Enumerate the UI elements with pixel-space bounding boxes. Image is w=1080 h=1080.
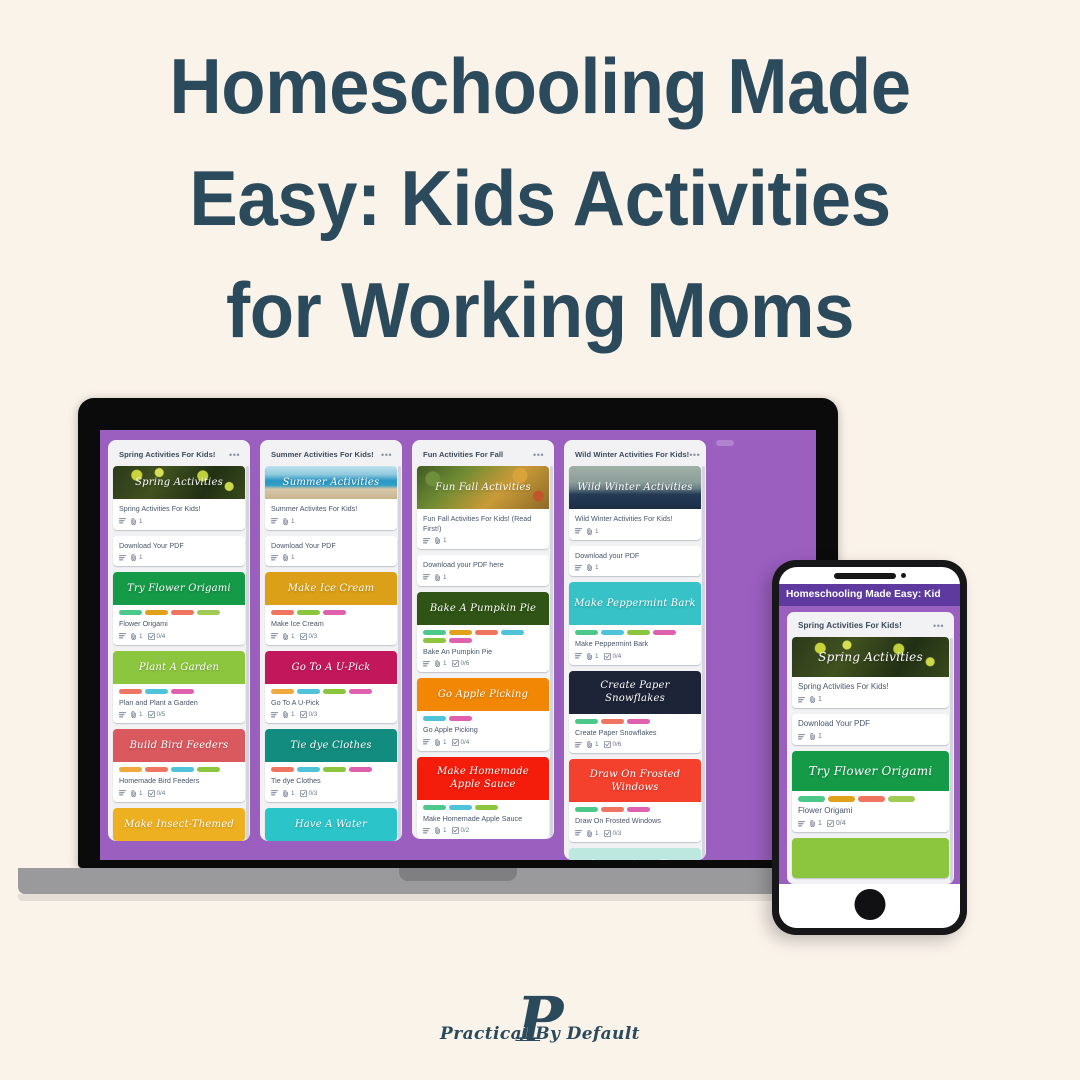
card-title: Spring Activities For Kids! <box>119 504 239 514</box>
card-label[interactable] <box>171 689 194 694</box>
card-body: Plan and Plant a Garden10/5 <box>113 684 245 724</box>
badge-attachment: 1 <box>131 790 143 797</box>
attachment-icon <box>131 554 137 561</box>
checklist-icon <box>604 741 611 748</box>
badge-description <box>271 790 278 796</box>
card-label[interactable] <box>145 689 168 694</box>
attachment-icon <box>435 739 441 746</box>
list-scrollbar[interactable] <box>398 466 401 839</box>
badge-description <box>575 742 582 748</box>
card-label[interactable] <box>475 805 498 810</box>
card-body: Bake An Pumpkin Pie10/6 <box>417 625 549 673</box>
card-labels <box>119 610 239 615</box>
badge-attachment: 1 <box>587 741 599 748</box>
card-labels <box>423 630 543 643</box>
badge-attachment: 1 <box>810 696 822 703</box>
badge-description <box>575 565 582 571</box>
card-title: Flower Origami <box>798 806 943 816</box>
card-label[interactable] <box>449 716 472 721</box>
card-cover-text: Spring Activities <box>131 476 227 489</box>
card-title: Homemade Bird Feeders <box>119 776 239 786</box>
badge-description <box>119 555 126 561</box>
list-header: Wild Winter Activities For Kids!••• <box>569 446 701 466</box>
card-label[interactable] <box>449 638 472 643</box>
card-label[interactable] <box>475 630 498 635</box>
description-icon <box>119 555 126 561</box>
card-cover-text: Learn About The <box>587 858 683 861</box>
card-title: Make Ice Cream <box>271 619 391 629</box>
badge-description <box>423 739 430 745</box>
card-cover: Go To A U-Pick <box>265 651 397 684</box>
attachment-icon <box>587 830 593 837</box>
card-body: Download your PDF here1 <box>417 555 549 586</box>
card-labels <box>271 610 391 615</box>
list-menu-icon[interactable]: ••• <box>533 453 544 457</box>
card-title: Make Homemade Apple Sauce <box>423 814 543 824</box>
card-body: Make Ice Cream10/3 <box>265 605 397 645</box>
phone-home-button[interactable] <box>854 889 885 920</box>
phone-board[interactable]: Spring Activities For Kids!•••Spring Act… <box>779 606 960 884</box>
badge-description <box>271 633 278 639</box>
list-scrollbar[interactable] <box>246 466 249 839</box>
card-title: Bake An Pumpkin Pie <box>423 647 543 657</box>
attachment-icon <box>435 660 441 667</box>
card-labels <box>423 805 543 810</box>
card-label[interactable] <box>575 630 598 635</box>
card-label[interactable] <box>888 796 915 802</box>
card-badges: 1 <box>575 564 695 571</box>
trello-board[interactable]: Spring Activities For Kids!•••Spring Act… <box>100 430 816 860</box>
card-badges: 10/4 <box>575 653 695 660</box>
card-label[interactable] <box>297 610 320 615</box>
board-card[interactable]: Make Peppermint BarkMake Peppermint Bark… <box>569 582 701 665</box>
attachment-icon <box>587 528 593 535</box>
card-badges: 10/3 <box>575 830 695 837</box>
page-title: Homeschooling Made Easy: Kids Activities… <box>60 30 1020 366</box>
board-card[interactable]: Go Apple PickingGo Apple Picking10/4 <box>417 678 549 751</box>
card-label[interactable] <box>601 807 624 812</box>
card-label[interactable] <box>197 767 220 772</box>
board-card[interactable]: Fun Fall ActivitiesFun Fall Activities F… <box>417 466 549 549</box>
card-cover: Build Bird Feeders <box>113 729 245 762</box>
badge-attachment: 1 <box>810 820 822 827</box>
board-card[interactable]: Go To A U-PickGo To A U-Pick10/3 <box>265 651 397 724</box>
card-cover: Try Flower Origami <box>113 572 245 605</box>
card-labels <box>271 689 391 694</box>
list-header: Spring Activities For Kids!••• <box>113 446 245 466</box>
description-icon <box>575 528 582 534</box>
card-body: Download Your PDF1 <box>113 536 245 567</box>
description-icon <box>575 653 582 659</box>
card-label[interactable] <box>323 610 346 615</box>
board-card[interactable]: Have A Water <box>265 808 397 841</box>
badge-attachment: 1 <box>435 827 447 834</box>
board-card[interactable]: Create Paper SnowflakesCreate Paper Snow… <box>569 671 701 754</box>
list-header: Fun Activities For Fall••• <box>417 446 549 466</box>
attachment-icon <box>435 827 441 834</box>
card-badges: 10/2 <box>423 827 543 834</box>
card-cover-text: Tie dye Clothes <box>286 739 376 752</box>
checklist-icon <box>300 711 307 718</box>
board-card[interactable]: Download Your PDF1 <box>265 536 397 567</box>
badge-attachment: 1 <box>587 830 599 837</box>
card-label[interactable] <box>423 638 446 643</box>
card-label[interactable] <box>349 689 372 694</box>
card-body: Homemade Bird Feeders10/4 <box>113 762 245 802</box>
board-list-partial[interactable] <box>716 440 734 446</box>
badge-description <box>271 712 278 718</box>
card-body: Draw On Frosted Windows10/3 <box>569 802 701 842</box>
badge-attachment: 1 <box>131 711 143 718</box>
list-title: Fun Activities For Fall <box>423 450 503 459</box>
card-labels <box>423 716 543 721</box>
list-scrollbar[interactable] <box>550 466 553 837</box>
card-label[interactable] <box>297 689 320 694</box>
board-card[interactable]: Bake A Pumpkin PieBake An Pumpkin Pie10/… <box>417 592 549 673</box>
card-badges: 1 <box>575 528 695 535</box>
attachment-icon <box>131 790 137 797</box>
card-body: Go To A U-Pick10/3 <box>265 684 397 724</box>
attachment-icon <box>283 711 289 718</box>
card-cover: Plant A Garden <box>113 651 245 684</box>
description-icon <box>575 565 582 571</box>
card-title: Create Paper Snowflakes <box>575 728 695 738</box>
board-card[interactable]: Learn About The <box>569 848 701 861</box>
card-title: Download your PDF here <box>423 560 543 570</box>
card-labels <box>575 807 695 812</box>
board-card[interactable]: Download Your PDF1 <box>113 536 245 567</box>
badge-attachment: 1 <box>587 528 599 535</box>
badge-attachment: 1 <box>283 790 295 797</box>
laptop-screen: Spring Activities For Kids!•••Spring Act… <box>78 398 838 868</box>
card-body: Summer Activites For Kids!1 <box>265 499 397 530</box>
attachment-icon <box>587 564 593 571</box>
card-badges: 10/4 <box>423 739 543 746</box>
card-label[interactable] <box>653 630 676 635</box>
checklist-icon <box>148 633 155 640</box>
card-label[interactable] <box>323 767 346 772</box>
badge-description <box>271 518 278 524</box>
card-title: Tie dye Clothes <box>271 776 391 786</box>
laptop-mockup: Spring Activities For Kids!•••Spring Act… <box>78 398 838 910</box>
description-icon <box>423 828 430 834</box>
card-badges: 10/4 <box>798 820 943 827</box>
badge-checklist: 0/3 <box>300 790 318 797</box>
checklist-icon <box>452 660 459 667</box>
card-cover: Wild Winter Activities <box>569 466 701 509</box>
checklist-icon <box>300 633 307 640</box>
card-label[interactable] <box>271 689 294 694</box>
card-label[interactable] <box>145 767 168 772</box>
phone-list-scrollbar[interactable] <box>950 638 953 882</box>
card-cover: Create Paper Snowflakes <box>569 671 701 714</box>
badge-attachment: 1 <box>587 564 599 571</box>
card-label[interactable] <box>119 689 142 694</box>
card-badges: 1 <box>798 696 943 703</box>
card-label[interactable] <box>449 805 472 810</box>
attachment-icon <box>810 733 816 740</box>
badge-attachment: 1 <box>283 518 295 525</box>
phone-list-spring[interactable]: Spring Activities For Kids!•••Spring Act… <box>787 612 954 884</box>
attachment-icon <box>131 633 137 640</box>
card-label[interactable] <box>119 610 142 615</box>
card-body: Download Your PDF1 <box>265 536 397 567</box>
card-label[interactable] <box>449 630 472 635</box>
badge-checklist: 0/4 <box>827 820 846 827</box>
board-card[interactable]: Make Ice CreamMake Ice Cream10/3 <box>265 572 397 645</box>
attachment-icon <box>131 711 137 718</box>
card-badges: 10/6 <box>575 741 695 748</box>
card-cover: Make Insect-Themed <box>113 808 245 841</box>
board-list[interactable]: Wild Winter Activities For Kids!•••Wild … <box>564 440 706 860</box>
card-cover-text: Draw On Frosted Windows <box>569 768 701 794</box>
badge-checklist: 0/3 <box>300 711 318 718</box>
card-badges: 10/3 <box>271 711 391 718</box>
card-cover-text: Create Paper Snowflakes <box>569 679 701 705</box>
badge-checklist: 0/3 <box>300 633 318 640</box>
badge-description <box>423 828 430 834</box>
board-card[interactable]: Make Homemade Apple SauceMake Homemade A… <box>417 757 549 840</box>
board-card[interactable]: Summer ActivitiesSummer Activites For Ki… <box>265 466 397 530</box>
card-label[interactable] <box>601 630 624 635</box>
card-title: Summer Activites For Kids! <box>271 504 391 514</box>
board-card[interactable]: Tie dye ClothesTie dye Clothes10/3 <box>265 729 397 802</box>
list-title: Wild Winter Activities For Kids! <box>575 450 689 459</box>
card-body: Go Apple Picking10/4 <box>417 711 549 751</box>
card-labels <box>119 767 239 772</box>
card-label[interactable] <box>297 767 320 772</box>
checklist-icon <box>452 739 459 746</box>
phone-list-menu-icon[interactable]: ••• <box>933 624 944 628</box>
card-cover: Bake A Pumpkin Pie <box>417 592 549 625</box>
badge-checklist: 0/5 <box>148 711 166 718</box>
badge-attachment: 1 <box>435 739 447 746</box>
board-list[interactable]: Summer Activities For Kids!•••Summer Act… <box>260 440 402 841</box>
description-icon <box>575 830 582 836</box>
board-list[interactable]: Fun Activities For Fall•••Fun Fall Activ… <box>412 440 554 839</box>
card-badges: 1 <box>423 574 543 581</box>
card-label[interactable] <box>349 767 372 772</box>
card-badges: 10/5 <box>119 711 239 718</box>
list-menu-icon[interactable]: ••• <box>229 453 240 457</box>
card-labels <box>575 719 695 724</box>
badge-description <box>575 653 582 659</box>
card-title: Go Apple Picking <box>423 725 543 735</box>
badge-description <box>575 528 582 534</box>
board-card[interactable]: Spring ActivitiesSpring Activities For K… <box>113 466 245 530</box>
board-card[interactable]: Build Bird FeedersHomemade Bird Feeders1… <box>113 729 245 802</box>
card-title: Download Your PDF <box>271 541 391 551</box>
card-label[interactable] <box>171 767 194 772</box>
card-cover: Make Ice Cream <box>265 572 397 605</box>
page-title-line-3: for Working Moms <box>94 254 987 366</box>
laptop-foot <box>18 894 898 901</box>
card-title: Spring Activities For Kids! <box>798 682 943 692</box>
checklist-icon <box>300 790 307 797</box>
card-label[interactable] <box>627 807 650 812</box>
attachment-icon <box>283 554 289 561</box>
list-title: Summer Activities For Kids! <box>271 450 374 459</box>
badge-checklist: 0/6 <box>604 741 622 748</box>
card-cover: Draw On Frosted Windows <box>569 759 701 802</box>
badge-description <box>798 734 805 740</box>
card-label[interactable] <box>423 630 446 635</box>
card-body: Spring Activities For Kids!1 <box>792 677 949 708</box>
card-label[interactable] <box>197 610 220 615</box>
card-cover-text: Bake A Pumpkin Pie <box>426 602 540 615</box>
list-title: Spring Activities For Kids! <box>119 450 215 459</box>
list-scrollbar[interactable] <box>702 466 705 858</box>
card-label[interactable] <box>423 805 446 810</box>
board-card[interactable]: Spring ActivitiesSpring Activities For K… <box>792 637 949 708</box>
board-card[interactable]: Make Insect-Themed <box>113 808 245 841</box>
card-label[interactable] <box>798 796 825 802</box>
badge-attachment: 1 <box>283 633 295 640</box>
card-cover-text: Wild Winter Activities <box>573 481 696 494</box>
card-cover-text: Make Homemade Apple Sauce <box>417 765 549 791</box>
phone-screen: Homeschooling Made Easy: Kid Spring Acti… <box>779 567 960 928</box>
badge-attachment: 1 <box>435 574 447 581</box>
card-label[interactable] <box>601 719 624 724</box>
card-badges: 10/3 <box>271 633 391 640</box>
description-icon <box>271 633 278 639</box>
badge-attachment: 1 <box>131 633 143 640</box>
card-label[interactable] <box>575 807 598 812</box>
card-title: Flower Origami <box>119 619 239 629</box>
attachment-icon <box>283 633 289 640</box>
card-badges: 1 <box>271 554 391 561</box>
card-label[interactable] <box>171 610 194 615</box>
card-title: Download Your PDF <box>119 541 239 551</box>
card-body: Download Your PDF1 <box>792 714 949 745</box>
card-body: Fun Fall Activities For Kids! (Read Firs… <box>417 509 549 549</box>
badge-description <box>423 574 430 580</box>
description-icon <box>423 739 430 745</box>
card-cover-text: Make Peppermint Bark <box>570 597 700 610</box>
card-labels <box>119 689 239 694</box>
card-cover: Spring Activities <box>792 637 949 677</box>
card-label[interactable] <box>627 630 650 635</box>
card-label[interactable] <box>271 767 294 772</box>
badge-description <box>119 790 126 796</box>
card-label[interactable] <box>501 630 524 635</box>
description-icon <box>423 661 430 667</box>
badge-attachment: 1 <box>283 554 295 561</box>
attachment-icon <box>435 537 441 544</box>
card-label[interactable] <box>271 610 294 615</box>
card-label[interactable] <box>423 716 446 721</box>
card-label[interactable] <box>828 796 855 802</box>
board-card[interactable] <box>792 838 949 878</box>
checklist-icon <box>604 830 611 837</box>
attachment-icon <box>283 518 289 525</box>
card-body: Make Peppermint Bark10/4 <box>569 625 701 665</box>
board-card[interactable]: Wild Winter ActivitiesWild Winter Activi… <box>569 466 701 540</box>
card-cover: Make Homemade Apple Sauce <box>417 757 549 800</box>
card-title: Download your PDF <box>575 551 695 561</box>
attachment-icon <box>587 653 593 660</box>
badge-description <box>423 538 430 544</box>
card-label[interactable] <box>119 767 142 772</box>
description-icon <box>119 518 126 524</box>
description-icon <box>798 821 805 827</box>
phone-camera-icon <box>901 573 906 578</box>
badge-attachment: 1 <box>435 660 447 667</box>
attachment-icon <box>810 696 816 703</box>
description-icon <box>119 633 126 639</box>
badge-attachment: 1 <box>283 711 295 718</box>
page-title-line-2: Easy: Kids Activities <box>94 142 987 254</box>
badge-attachment: 1 <box>587 653 599 660</box>
board-card[interactable]: Draw On Frosted WindowsDraw On Frosted W… <box>569 759 701 842</box>
board-list[interactable]: Spring Activities For Kids!•••Spring Act… <box>108 440 250 841</box>
board-card[interactable]: Download your PDF1 <box>569 546 701 577</box>
laptop-trackpad-notch <box>399 868 517 881</box>
board-card[interactable]: Try Flower OrigamiFlower Origami10/4 <box>792 751 949 832</box>
card-cover-text: Go Apple Picking <box>434 688 532 701</box>
card-label[interactable] <box>627 719 650 724</box>
card-title: Plan and Plant a Garden <box>119 698 239 708</box>
board-card[interactable]: Try Flower OrigamiFlower Origami10/4 <box>113 572 245 645</box>
badge-attachment: 1 <box>810 733 822 740</box>
card-stack: Fun Fall ActivitiesFun Fall Activities F… <box>417 466 549 839</box>
card-stack: Summer ActivitiesSummer Activites For Ki… <box>265 466 397 841</box>
description-icon <box>271 518 278 524</box>
card-cover: Tie dye Clothes <box>265 729 397 762</box>
board-card[interactable]: Plant A GardenPlan and Plant a Garden10/… <box>113 651 245 724</box>
list-menu-icon[interactable]: ••• <box>381 453 392 457</box>
badge-description <box>423 661 430 667</box>
card-cover-text: Summer Activities <box>279 476 384 489</box>
attachment-icon <box>587 741 593 748</box>
description-icon <box>271 790 278 796</box>
badge-attachment: 1 <box>131 518 143 525</box>
list-menu-icon[interactable]: ••• <box>689 453 700 457</box>
badge-description <box>119 518 126 524</box>
card-cover-text: Build Bird Feeders <box>126 739 233 752</box>
board-card[interactable]: Download your PDF here1 <box>417 555 549 586</box>
description-icon <box>119 712 126 718</box>
card-cover <box>792 838 949 878</box>
badge-checklist: 0/4 <box>604 653 622 660</box>
card-label[interactable] <box>145 610 168 615</box>
card-body: Spring Activities For Kids!1 <box>113 499 245 530</box>
phone-speaker-row <box>779 567 960 584</box>
badge-checklist: 0/3 <box>604 830 622 837</box>
board-card[interactable]: Download Your PDF1 <box>792 714 949 745</box>
card-badges: 10/4 <box>119 633 239 640</box>
description-icon <box>119 790 126 796</box>
description-icon <box>271 555 278 561</box>
badge-checklist: 0/4 <box>148 790 166 797</box>
card-label[interactable] <box>323 689 346 694</box>
phone-list-header: Spring Activities For Kids!••• <box>792 617 949 637</box>
card-label[interactable] <box>858 796 885 802</box>
checklist-icon <box>148 711 155 718</box>
card-label[interactable] <box>575 719 598 724</box>
card-title: Draw On Frosted Windows <box>575 816 695 826</box>
card-cover: Have A Water <box>265 808 397 841</box>
card-badges: 1 <box>119 554 239 561</box>
badge-description <box>119 633 126 639</box>
card-cover-text: Plant A Garden <box>135 661 223 674</box>
card-cover-text: Go To A U-Pick <box>288 661 375 674</box>
badge-description <box>271 555 278 561</box>
attachment-icon <box>131 518 137 525</box>
phone-speaker-icon <box>834 573 896 579</box>
phone-mockup: Homeschooling Made Easy: Kid Spring Acti… <box>772 560 967 935</box>
description-icon <box>575 742 582 748</box>
